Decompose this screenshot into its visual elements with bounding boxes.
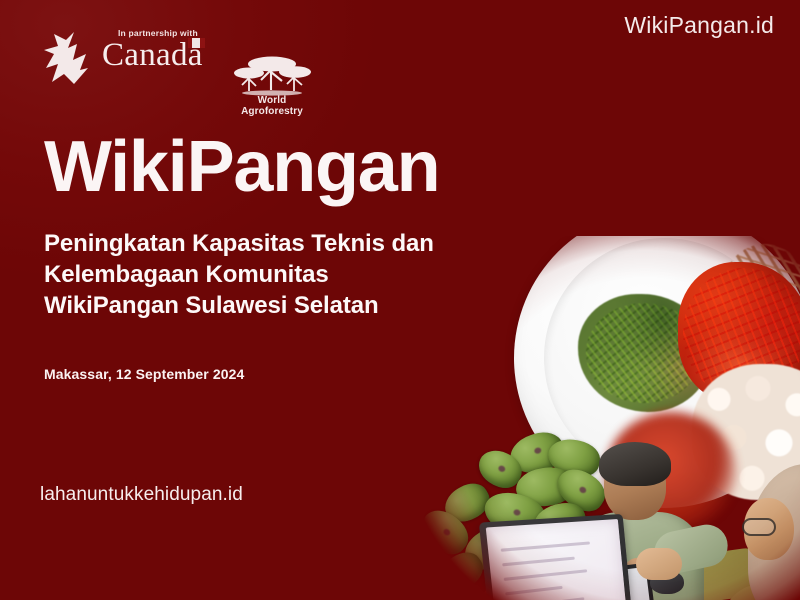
man-hair (599, 442, 671, 486)
subtitle-line-1: Peningkatan Kapasitas Teknis dan (44, 228, 564, 259)
canada-flag-icon (188, 38, 205, 48)
woman-hand (636, 548, 682, 580)
site-tag: WikiPangan.id (624, 12, 774, 39)
subtitle-line-2: Kelembagaan Komunitas (44, 259, 564, 290)
presentation-slide: In partnership with Canada Wor (0, 0, 800, 600)
page-title: WikiPangan (44, 131, 439, 203)
subtitle-line-3: WikiPangan Sulawesi Selatan (44, 290, 564, 321)
agroforestry-line2: Agroforestry (232, 107, 312, 118)
canada-wordmark: Canada (102, 39, 203, 72)
event-date: Makassar, 12 September 2024 (44, 366, 244, 382)
agroforestry-label: World Agroforestry (232, 96, 312, 118)
eyeglasses-icon (742, 518, 776, 536)
acacia-trees-icon (232, 54, 312, 96)
canada-wordmark-block: In partnership with Canada (102, 28, 203, 72)
world-agroforestry-logo: World Agroforestry (232, 54, 312, 120)
subtitle: Peningkatan Kapasitas Teknis dan Kelemba… (44, 228, 564, 322)
footer-url: lahanuntukkehidupan.id (40, 484, 243, 506)
laptop-screen-image (479, 514, 634, 600)
maple-leaf-icon (44, 30, 90, 86)
